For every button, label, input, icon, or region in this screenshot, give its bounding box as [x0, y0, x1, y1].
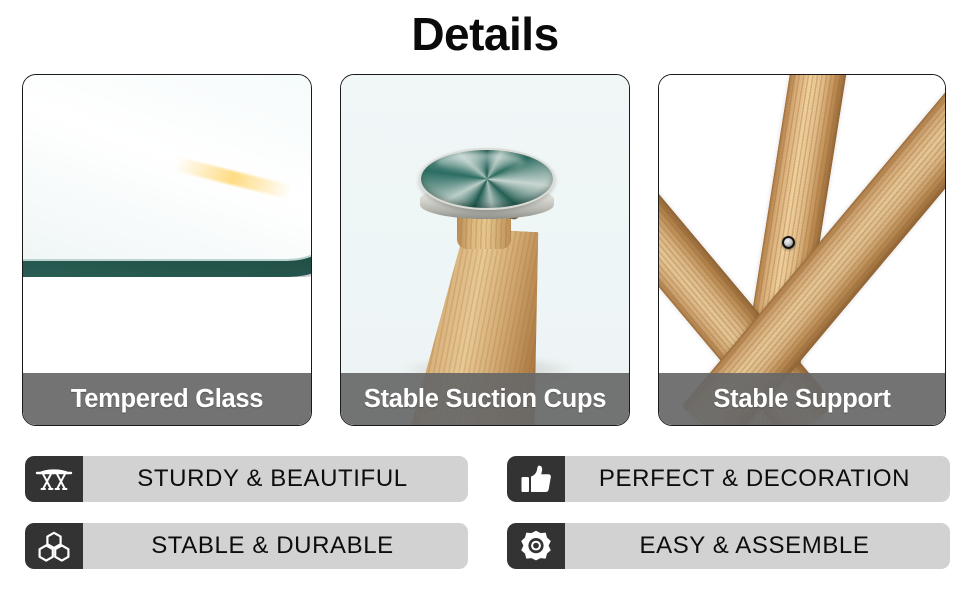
panel-caption: Tempered Glass: [23, 373, 311, 425]
feature-badge-perfect-decoration[interactable]: PERFECT & DECORATION: [507, 456, 950, 502]
glass-surface: [23, 75, 311, 261]
feature-badge-sturdy-beautiful[interactable]: STURDY & BEAUTIFUL: [25, 456, 468, 502]
panel-caption: Stable Suction Cups: [341, 373, 629, 425]
detail-panel-stable-suction-cups[interactable]: Stable Suction Cups: [340, 74, 630, 426]
feature-label: EASY & ASSEMBLE: [565, 532, 950, 560]
panel-caption: Stable Support: [659, 373, 945, 425]
feature-label: STABLE & DURABLE: [83, 532, 468, 560]
hexagons-icon: [25, 523, 83, 569]
gear-icon: [507, 523, 565, 569]
feature-label: STURDY & BEAUTIFUL: [83, 465, 468, 493]
feature-label: PERFECT & DECORATION: [565, 465, 950, 493]
detail-panels: Tempered Glass Stable Suction Cups Stabl…: [22, 74, 948, 426]
screw-icon: [782, 236, 795, 249]
suction-cup-gloss: [437, 153, 525, 171]
table-icon: [25, 456, 83, 502]
thumbs-up-icon: [507, 456, 565, 502]
detail-panel-tempered-glass[interactable]: Tempered Glass: [22, 74, 312, 426]
page-title: Details: [0, 4, 970, 64]
detail-panel-stable-support[interactable]: Stable Support: [658, 74, 946, 426]
feature-badge-easy-assemble[interactable]: EASY & ASSEMBLE: [507, 523, 950, 569]
feature-badges: STURDY & BEAUTIFUL PERFECT & DECORATION …: [25, 456, 950, 569]
feature-badge-stable-durable[interactable]: STABLE & DURABLE: [25, 523, 468, 569]
